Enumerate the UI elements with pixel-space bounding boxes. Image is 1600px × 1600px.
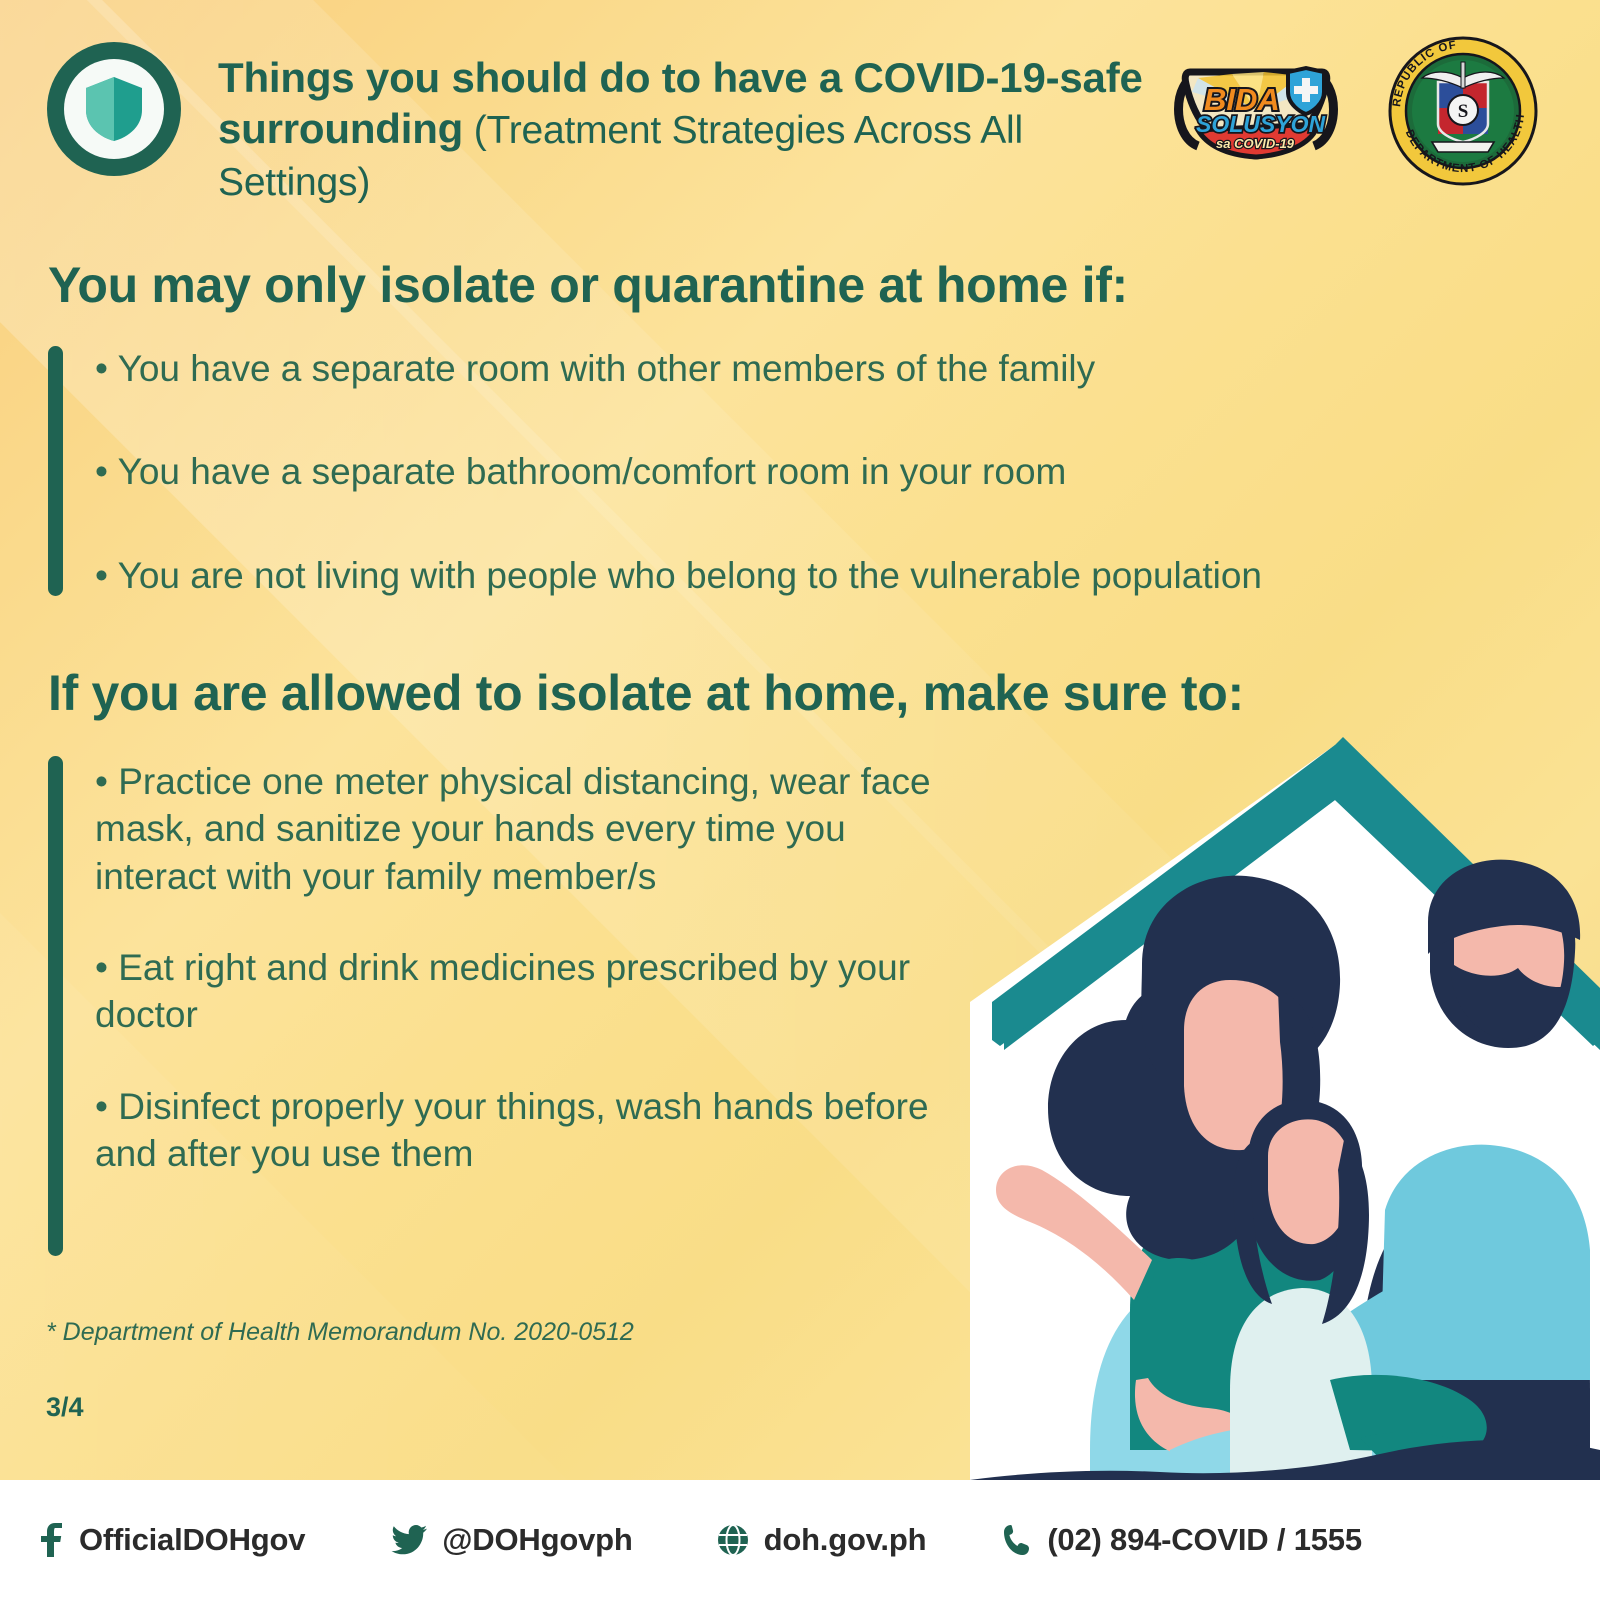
page-title: Things you should do to have a COVID-19-… [218, 52, 1148, 206]
bida-solusyon-logo-icon: BIDA SOLUSYON sa COVID-19 [1168, 44, 1344, 176]
list-item: • You have a separate room with other me… [95, 345, 1565, 392]
shield-icon [83, 76, 145, 142]
list-item: • You are not living with people who bel… [95, 552, 1565, 599]
header: Things you should do to have a COVID-19-… [0, 0, 1600, 210]
section-1-bullet-list: • You have a separate room with other me… [95, 345, 1565, 655]
solusyon-wordmark: SOLUSYON [1196, 111, 1325, 137]
page-title-line2: surrounding [218, 105, 463, 152]
footer-label-facebook: OfficialDOHgov [79, 1522, 305, 1558]
section-2-bullet-list: • Practice one meter physical distancing… [95, 758, 945, 1222]
shield-badge [47, 42, 181, 176]
footer-contact-bar: OfficialDOHgov @DOHgovph doh.gov.ph [0, 1480, 1600, 1600]
section-1-accent-bar [48, 346, 63, 596]
facebook-icon [38, 1523, 64, 1557]
doh-seal-logo: REPUBLIC OF THE PHILIPPINES DEPARTMENT O… [1388, 36, 1538, 186]
bida-solusyon-logo: BIDA SOLUSYON sa COVID-19 [1168, 44, 1344, 176]
section-1-heading: You may only isolate or quarantine at ho… [48, 256, 1128, 314]
footer-label-phone: (02) 894-COVID / 1555 [1047, 1522, 1362, 1558]
phone-icon [1004, 1524, 1032, 1556]
page-title-line1: Things you should do to have a COVID-19-… [218, 54, 1143, 101]
footer-item-facebook[interactable]: OfficialDOHgov [38, 1522, 305, 1558]
section-2-accent-bar [48, 756, 63, 1256]
footnote: * Department of Health Memorandum No. 20… [46, 1318, 634, 1347]
infographic-poster: Things you should do to have a COVID-19-… [0, 0, 1600, 1600]
twitter-icon [391, 1525, 427, 1555]
shield-badge-inner [64, 59, 164, 159]
list-item: • Practice one meter physical distancing… [95, 758, 945, 900]
footer-item-phone[interactable]: (02) 894-COVID / 1555 [1004, 1522, 1362, 1558]
page-number: 3/4 [46, 1392, 84, 1423]
list-item: • Eat right and drink medicines prescrib… [95, 944, 945, 1039]
globe-icon [717, 1524, 749, 1556]
family-illustration-icon [930, 690, 1600, 1490]
doh-seal-icon: REPUBLIC OF THE PHILIPPINES DEPARTMENT O… [1388, 36, 1538, 186]
covid19-wordmark: sa COVID-19 [1216, 136, 1295, 151]
list-item: • Disinfect properly your things, wash h… [95, 1083, 945, 1178]
list-item: • You have a separate bathroom/comfort r… [95, 448, 1565, 495]
footer-label-website: doh.gov.ph [764, 1522, 927, 1558]
footer-item-twitter[interactable]: @DOHgovph [391, 1522, 632, 1558]
footer-item-website[interactable]: doh.gov.ph [717, 1522, 927, 1558]
footer-label-twitter: @DOHgovph [442, 1522, 632, 1558]
svg-text:S: S [1458, 101, 1469, 122]
family-at-home-illustration [930, 690, 1600, 1490]
